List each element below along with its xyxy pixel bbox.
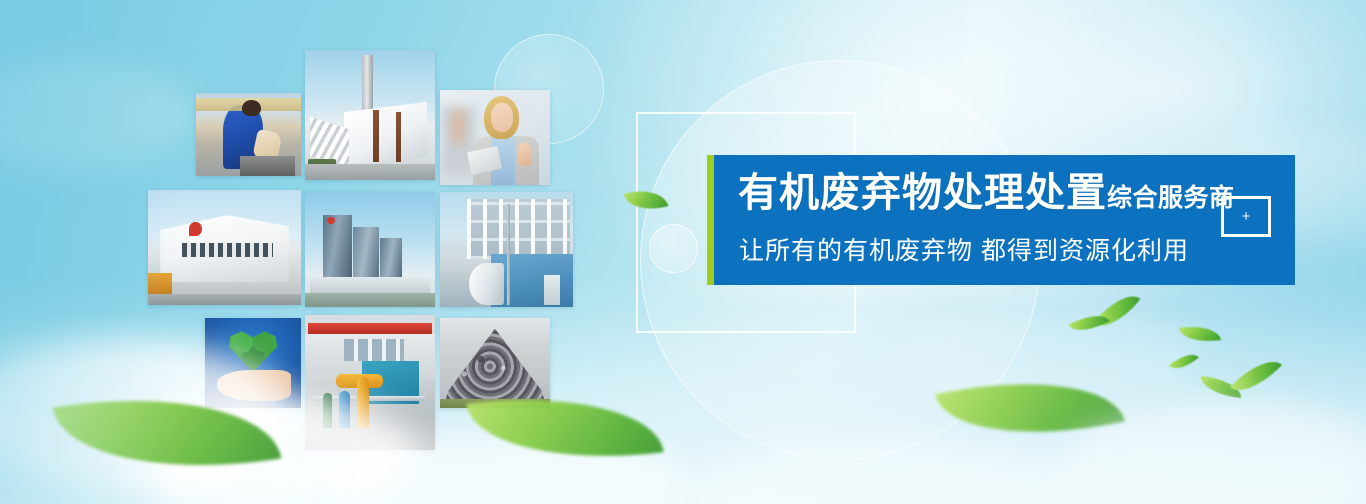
headline-sub-text: 综合服务商 [1107,186,1235,213]
accent-bar [707,155,714,285]
collage-tile-blue-industrial-facility[interactable] [440,192,573,307]
white-factory-building-image [148,190,301,305]
hero-banner: 有机废弃物处理处置 综合服务商 让所有的有机废弃物 都得到资源化利用 + [0,0,1366,504]
page-title: 有机废弃物处理处置 综合服务商 [738,173,1235,213]
headline-banner: 有机废弃物处理处置 综合服务商 让所有的有机废弃物 都得到资源化利用 [707,155,1295,285]
expand-plus-button[interactable]: + [1221,196,1271,237]
headline-main-text: 有机废弃物处理处置 [738,173,1107,213]
treatment-plant-exterior-image [305,50,435,180]
collage-tile-businesswoman-thumbs-up[interactable] [440,90,550,185]
collage-tile-treatment-plant-exterior[interactable] [305,50,435,180]
businesswoman-thumbs-up-image [440,90,550,185]
blue-industrial-facility-image [440,192,573,307]
headline-subline: 让所有的有机废弃物 都得到资源化利用 [739,231,1189,267]
collage-tile-worker-feeding-material[interactable] [196,93,301,176]
decor-circle-small [649,224,698,273]
office-towers-image [305,192,435,307]
worker-feeding-material-image [196,93,301,176]
collage-tile-office-towers[interactable] [305,192,435,307]
collage-tile-white-factory-building[interactable] [148,190,301,305]
